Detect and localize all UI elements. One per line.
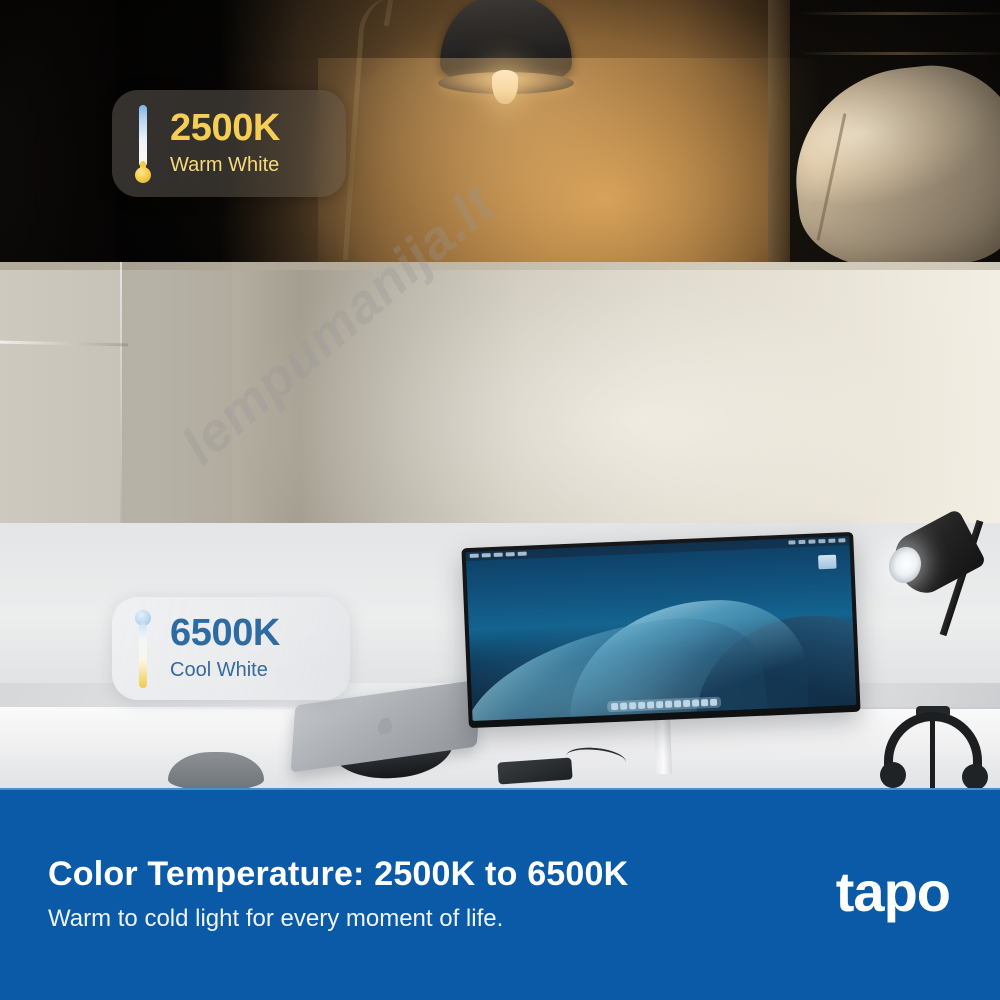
banner-inner: Color Temperature: 2500K to 6500K Warm t…: [0, 790, 1000, 1000]
badge-kelvin-value: 2500K: [170, 109, 280, 148]
banner-subtitle: Warm to cold light for every moment of l…: [48, 905, 628, 934]
thermometer-stem: [139, 105, 147, 167]
banner-title: Color Temperature: 2500K to 6500K: [48, 856, 628, 893]
thermometer-inverted-icon: [134, 610, 152, 688]
wall-column: [122, 262, 232, 523]
badge-text-group: 6500K Cool White: [170, 614, 280, 683]
badge-kelvin-label: Warm White: [170, 153, 280, 178]
apple-logo-icon: [378, 717, 393, 735]
bottom-banner: Color Temperature: 2500K to 6500K Warm t…: [0, 788, 1000, 1000]
headphone-earcup: [880, 762, 906, 788]
thermometer-icon: [134, 105, 152, 183]
badge-cool-white[interactable]: 6500K Cool White: [112, 597, 350, 700]
badge-kelvin-value: 6500K: [170, 614, 280, 653]
ultrawide-monitor: [461, 532, 860, 728]
badge-kelvin-label: Cool White: [170, 658, 280, 683]
badge-text-group: 2500K Warm White: [170, 109, 280, 178]
badge-warm-white[interactable]: 2500K Warm White: [112, 90, 346, 197]
menu-bar-status-items: [788, 538, 845, 544]
panel-warm-white: 2500K Warm White: [0, 0, 1000, 262]
tapo-logo: tapo: [836, 864, 960, 920]
panel-daylight: 4000K Daylight: [0, 262, 1000, 523]
banner-copy: Color Temperature: 2500K to 6500K Warm t…: [48, 856, 628, 934]
menu-bar-left-items: [470, 552, 527, 558]
desktop-folder-icon: [818, 555, 837, 570]
wall-corner-edge: [120, 262, 122, 523]
monitor-stand: [654, 716, 672, 775]
monitor-screen: [466, 536, 857, 721]
product-feature-image: 2500K Warm White: [0, 0, 1000, 1000]
thermometer-bulb: [135, 167, 151, 183]
headphone-earcup: [962, 764, 988, 790]
thermometer-stem: [139, 624, 147, 688]
